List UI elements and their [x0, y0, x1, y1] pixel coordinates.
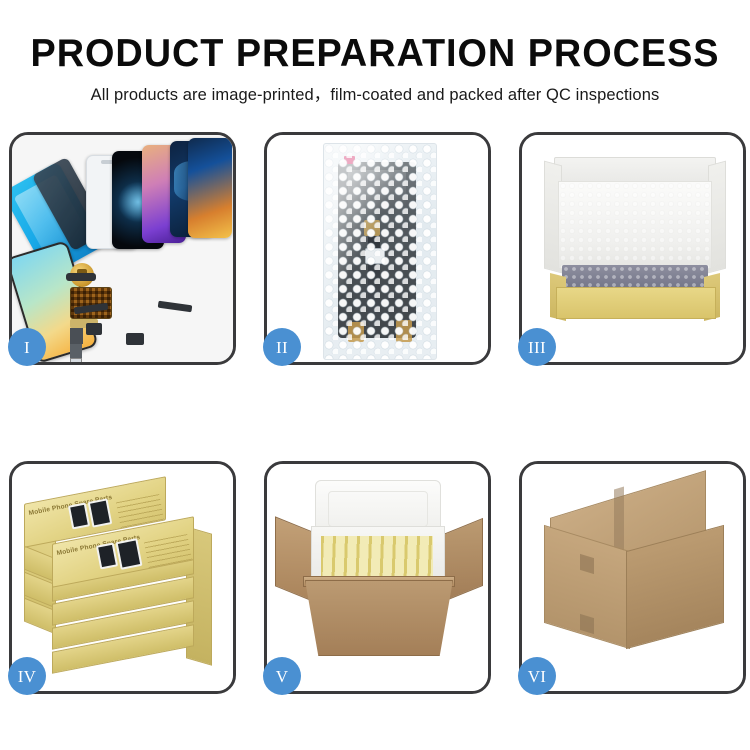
carton-front-icon	[305, 580, 453, 656]
step-badge-6: VI	[518, 657, 556, 695]
page-subtitle: All products are image-printed，film-coat…	[0, 75, 750, 106]
part-bar-icon	[66, 273, 96, 281]
spare-parts-cluster	[70, 263, 228, 359]
step-1-photo	[12, 135, 233, 362]
small-part-icon	[70, 328, 83, 344]
step-2-photo	[267, 135, 488, 362]
small-part-icon	[86, 323, 102, 335]
small-part-icon	[126, 333, 144, 345]
bubble-wrap-bag	[323, 143, 437, 360]
step-3-photo	[522, 135, 743, 362]
foam-texture	[559, 182, 711, 268]
product-preparation-infographic: PRODUCT PREPARATION PROCESS All products…	[0, 0, 750, 750]
step-panel-3: III	[519, 132, 746, 365]
step-panel-6: VI	[519, 461, 746, 694]
step-5-photo	[267, 464, 488, 691]
step-badge-1: I	[8, 328, 46, 366]
steps-grid: I II	[0, 132, 750, 696]
step-panel-2: II	[264, 132, 491, 365]
step-panel-5: V	[264, 461, 491, 694]
foam-sheet-icon	[558, 181, 712, 269]
flex-cable-icon	[158, 301, 193, 313]
step-4-photo: Mobile Phone Spare Parts Mobile Phone Sp…	[12, 464, 233, 691]
box-front-icon	[556, 287, 716, 319]
small-part-icon	[70, 344, 82, 358]
step-badge-3: III	[518, 328, 556, 366]
step-badge-4: IV	[8, 657, 46, 695]
step-panel-4: Mobile Phone Spare Parts Mobile Phone Sp…	[9, 461, 236, 694]
steps-row-2: Mobile Phone Spare Parts Mobile Phone Sp…	[0, 461, 750, 696]
retail-box-stack: Mobile Phone Spare Parts Mobile Phone Sp…	[18, 490, 230, 676]
step-panel-1: I	[9, 132, 236, 365]
small-part-icon	[70, 358, 82, 362]
steps-row-1: I II	[0, 132, 750, 367]
page-title: PRODUCT PREPARATION PROCESS	[11, 0, 739, 75]
gold-phone-icon	[188, 138, 232, 238]
header: PRODUCT PREPARATION PROCESS All products…	[0, 0, 750, 106]
step-badge-2: II	[263, 328, 301, 366]
plastic-gloss	[324, 144, 436, 359]
packed-boxes-icon	[321, 536, 433, 578]
step-6-photo	[522, 464, 743, 691]
step-badge-5: V	[263, 657, 301, 695]
